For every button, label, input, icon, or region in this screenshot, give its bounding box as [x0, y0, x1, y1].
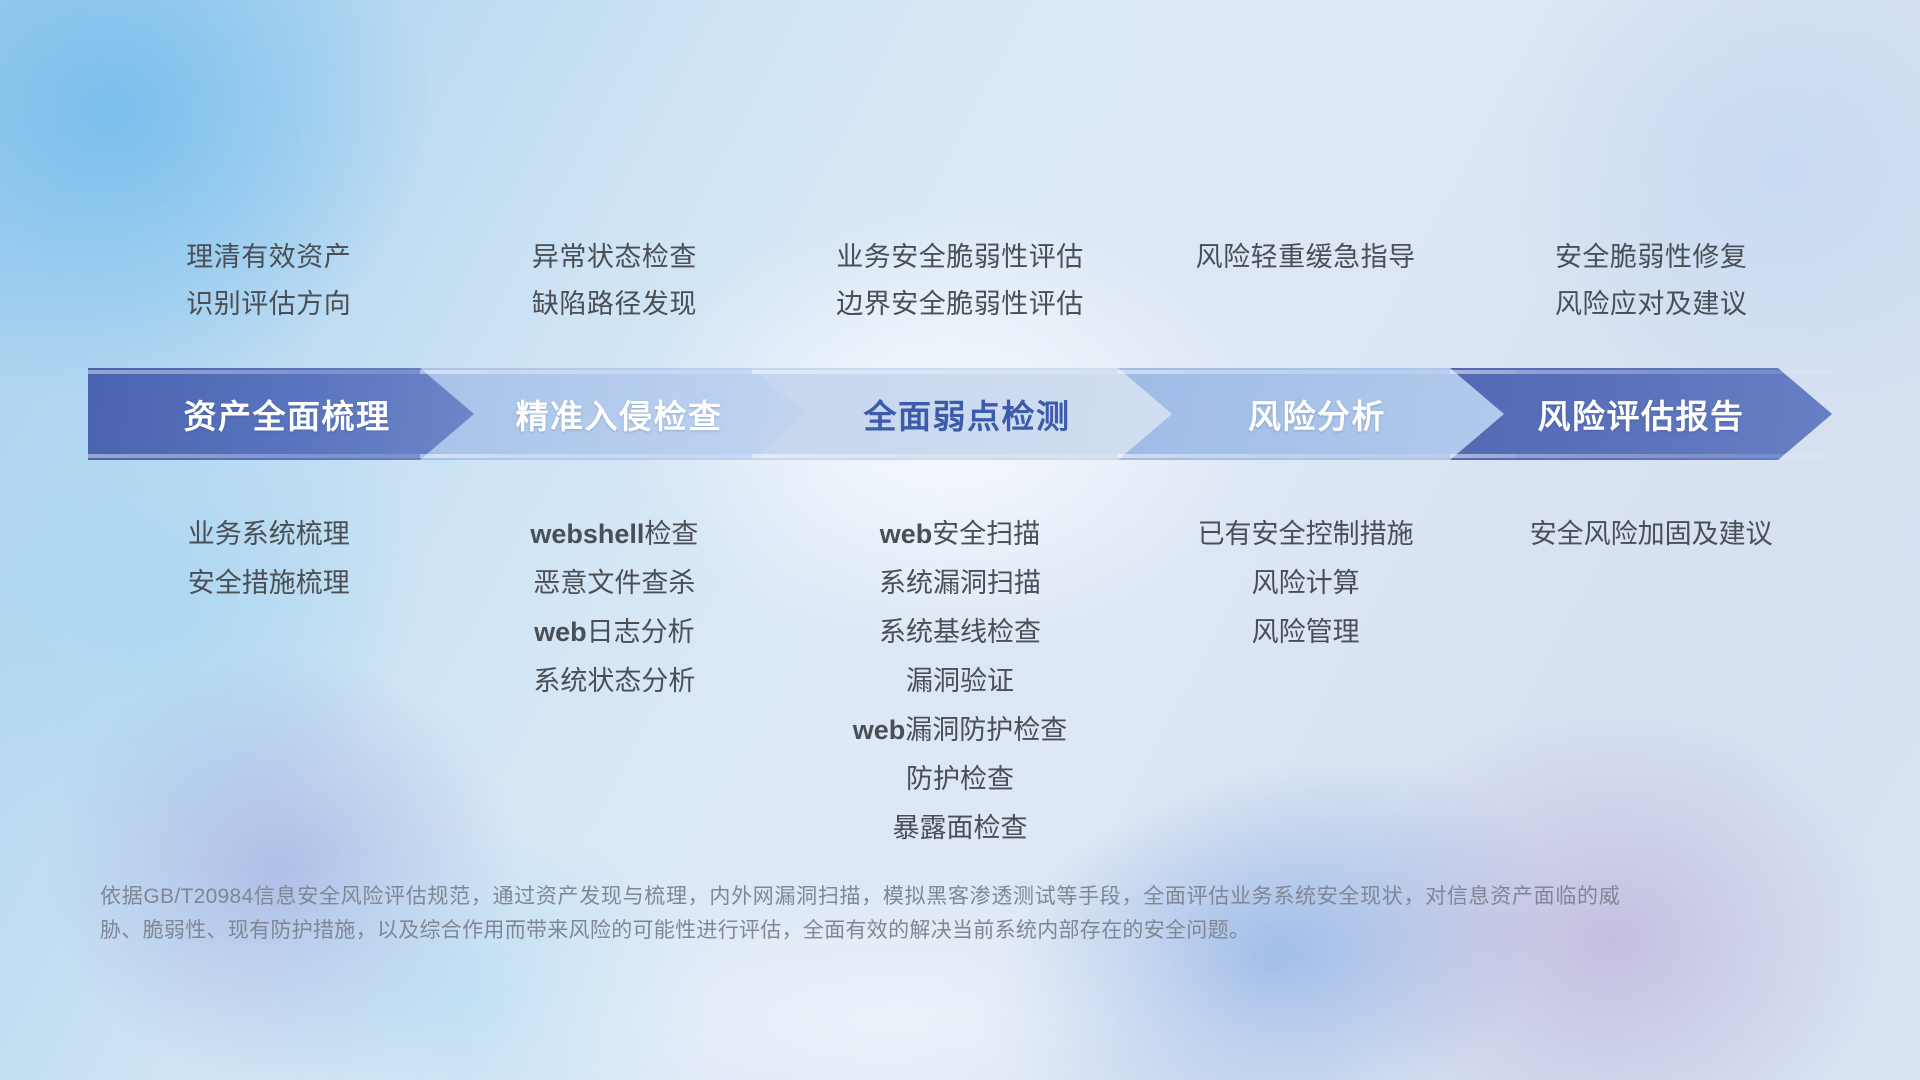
- stage-item: 安全风险加固及建议: [1478, 510, 1824, 559]
- stage-item-list: web安全扫描系统漏洞扫描系统基线检查漏洞验证web漏洞防护检查防护检查暴露面检…: [787, 510, 1133, 853]
- stage-item-list: webshell检查恶意文件查杀web日志分析系统状态分析: [442, 510, 788, 706]
- stage-arrow-label: 风险评估报告: [1538, 390, 1745, 438]
- arrow-gloss-top: [1450, 370, 1832, 374]
- stage-item: 恶意文件查杀: [442, 559, 788, 608]
- stage-item: 系统状态分析: [442, 657, 788, 706]
- stage-item: 系统漏洞扫描: [787, 559, 1133, 608]
- stage-arrow-label: 风险分析: [1248, 390, 1386, 438]
- stage-item-prefix: web: [534, 617, 587, 647]
- stage-item: web日志分析: [442, 608, 788, 657]
- stage-arrow-label: 精准入侵检查: [516, 390, 723, 438]
- stage-item: web漏洞防护检查: [787, 706, 1133, 755]
- stage-item-list: 业务系统梳理安全措施梳理: [96, 510, 442, 608]
- stage-item: 暴露面检查: [787, 804, 1133, 853]
- stage-item: 系统基线检查: [787, 608, 1133, 657]
- stage-item: 风险计算: [1133, 559, 1479, 608]
- stage-item: 已有安全控制措施: [1133, 510, 1479, 559]
- stage-item: webshell检查: [442, 510, 788, 559]
- stage-item-list: 安全风险加固及建议: [1478, 510, 1824, 559]
- stage-item: 风险管理: [1133, 608, 1479, 657]
- footer-description: 依据GB/T20984信息安全风险评估规范，通过资产发现与梳理，内外网漏洞扫描，…: [100, 880, 1620, 948]
- grid-gutter-left-bottom: [0, 0, 96, 1080]
- stage-item-prefix: webshell: [530, 519, 644, 549]
- stage-item: 安全措施梳理: [96, 559, 442, 608]
- grid-gutter-right-bottom: [1824, 0, 1920, 1080]
- stage-item-prefix: web: [880, 519, 933, 549]
- stage-item: web安全扫描: [787, 510, 1133, 559]
- stage-arrow-label: 全面弱点检测: [864, 390, 1071, 438]
- stage-item: 业务系统梳理: [96, 510, 442, 559]
- arrow-gloss-bottom: [1450, 454, 1832, 458]
- stage-item-prefix: web: [853, 715, 906, 745]
- diagram-canvas: 理清有效资产 识别评估方向 异常状态检查 缺陷路径发现 业务安全脆弱性评估 边界…: [0, 0, 1920, 1080]
- stage-item: 防护检查: [787, 755, 1133, 804]
- stage-item-list: 已有安全控制措施风险计算风险管理: [1133, 510, 1479, 657]
- stage-item: 漏洞验证: [787, 657, 1133, 706]
- stage-arrow-label: 资产全面梳理: [184, 390, 391, 438]
